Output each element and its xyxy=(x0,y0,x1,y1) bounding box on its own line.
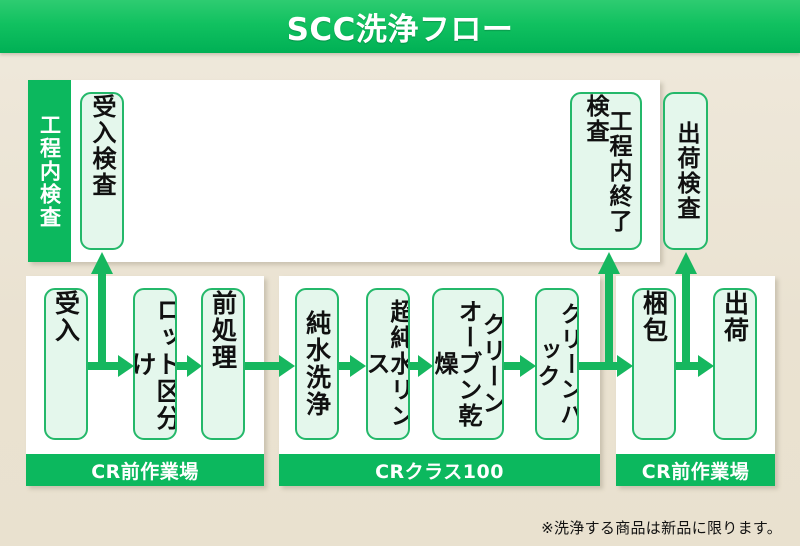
arrow-clean-oven-dry-to-clean-pack xyxy=(504,352,538,380)
inspection-box-shipping: 出荷検査 xyxy=(663,92,708,250)
step-box-shipping: 出荷 xyxy=(713,288,757,440)
step-box-pure-water-wash: 純水洗浄 xyxy=(295,288,339,440)
arrow-lot-sorting-to-pretreatment xyxy=(177,352,204,380)
arrow-pretreatment-to-pure-water-wash xyxy=(245,352,297,380)
group-footer-cr-class-100: CRクラス100 xyxy=(279,454,600,486)
step-box-clean-pack-col-0: クリーンパック xyxy=(535,290,579,438)
arrow-packing-to-shipping-inspection xyxy=(672,250,700,366)
arrow-pure-water-wash-to-ultrapure-rinse xyxy=(339,352,368,380)
step-box-packing: 梱包 xyxy=(632,288,676,440)
inspection-section-label-text: 工程内検査 xyxy=(38,114,60,229)
step-box-clean-oven-dry: クリーン オーブン乾燥 xyxy=(432,288,504,440)
inspection-box-shipping-col-0: 出荷検査 xyxy=(674,94,697,248)
footnote: ※洗浄する商品は新品に限ります。 xyxy=(541,517,782,538)
step-box-pretreatment: 前処理 xyxy=(201,288,245,440)
inspection-section-label: 工程内検査 xyxy=(28,80,71,262)
arrow-clean-pack-to-process-end-inspection xyxy=(595,250,623,366)
inspection-box-process-end: 工程内終了 検査 xyxy=(570,92,642,250)
step-box-receiving-col-0: 受入 xyxy=(54,288,79,440)
step-box-clean-oven-dry-col-1: オーブン乾燥 xyxy=(432,290,480,438)
step-box-ultrapure-rinse: 超純水リンス xyxy=(366,288,410,440)
step-box-pretreatment-col-0: 前処理 xyxy=(211,288,236,440)
inspection-box-process-end-col-0: 工程内終了 xyxy=(606,94,629,248)
inspection-box-incoming-col-0: 受入検査 xyxy=(90,92,114,250)
diagram-canvas: SCC洗浄フロー 工程内検査 受入検査 工程内終了 検査 出荷検査 CR前作業場… xyxy=(0,0,800,546)
title-bar: SCC洗浄フロー xyxy=(0,0,800,53)
step-box-packing-col-0: 梱包 xyxy=(642,288,667,440)
step-box-lot-sorting: ロット区分け xyxy=(133,288,177,440)
group-footer-pre-cr-1: CR前作業場 xyxy=(26,454,264,486)
step-box-clean-oven-dry-col-0: クリーン xyxy=(480,290,504,438)
step-box-lot-sorting-col-0: ロット区分け xyxy=(133,290,177,438)
arrow-ultrapure-rinse-to-clean-oven-dry xyxy=(410,352,435,380)
step-box-pure-water-wash-col-0: 純水洗浄 xyxy=(305,290,330,438)
step-box-ultrapure-rinse-col-0: 超純水リンス xyxy=(366,290,410,438)
step-box-clean-pack: クリーンパック xyxy=(535,288,579,440)
group-footer-pre-cr-2: CR前作業場 xyxy=(616,454,775,486)
arrow-receiving-to-incoming-inspection xyxy=(88,250,116,366)
page-title: SCC洗浄フロー xyxy=(287,4,514,49)
inspection-box-incoming: 受入検査 xyxy=(80,92,124,250)
step-box-shipping-col-0: 出荷 xyxy=(723,288,748,440)
step-box-receiving: 受入 xyxy=(44,288,88,440)
inspection-box-process-end-col-1: 検査 xyxy=(583,92,606,250)
